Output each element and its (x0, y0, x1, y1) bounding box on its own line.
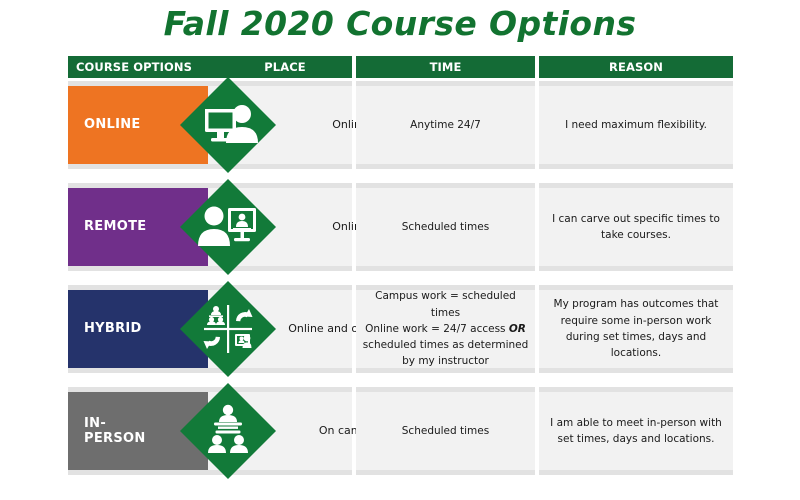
header-label-course-options: COURSE OPTIONS (76, 60, 192, 74)
mode-label-remote: REMOTE (84, 219, 146, 234)
mode-label-in-person-line1: IN- (84, 416, 106, 431)
reason-text-hybrid: My program has outcomes that require som… (539, 296, 733, 361)
cell-reason-hybrid: My program has outcomes that require som… (539, 285, 733, 373)
table-row: IN- PERSON (68, 387, 733, 475)
cell-time-in-person: Scheduled times (356, 387, 535, 475)
header-label-time: TIME (430, 60, 462, 74)
course-options-infographic: Fall 2020 Course Options COURSE OPTIONS … (0, 0, 800, 500)
monitor-person-icon (178, 75, 278, 175)
hybrid-quadrant-arrows-icon (178, 279, 278, 379)
time-text-hybrid: Campus work = scheduled times Online wor… (356, 288, 535, 369)
cell-course-option-in-person: IN- PERSON (68, 387, 352, 475)
time-emphasis-or: OR (509, 323, 526, 335)
time-text-remote: Scheduled times (396, 219, 495, 235)
header-label-place: PLACE (218, 60, 352, 74)
page-title: Fall 2020 Course Options (0, 4, 800, 43)
time-text-in-person: Scheduled times (396, 423, 495, 439)
cell-time-remote: Scheduled times (356, 183, 535, 271)
table-header-row: COURSE OPTIONS PLACE TIME REASON (68, 56, 733, 78)
person-at-screen-icon (178, 177, 278, 277)
time-line-1: Campus work = scheduled times (375, 290, 516, 318)
mode-label-hybrid: HYBRID (84, 321, 142, 336)
cell-course-option-hybrid: HYBRID (68, 285, 352, 373)
table-row: HYBRID (68, 285, 733, 373)
course-options-table: COURSE OPTIONS PLACE TIME REASON ONLINE (68, 56, 733, 475)
cell-course-option-remote: REMOTE (68, 183, 352, 271)
header-cell-reason: REASON (539, 56, 733, 78)
cell-reason-remote: I can carve out specific times to take c… (539, 183, 733, 271)
cell-reason-in-person: I am able to meet in-person with set tim… (539, 387, 733, 475)
cell-time-online: Anytime 24/7 (356, 81, 535, 169)
cell-time-hybrid: Campus work = scheduled times Online wor… (356, 285, 535, 373)
mode-label-online: ONLINE (84, 117, 141, 132)
reason-text-remote: I can carve out specific times to take c… (539, 211, 733, 244)
reason-text-in-person: I am able to meet in-person with set tim… (539, 415, 733, 448)
cell-reason-online: I need maximum flexibility. (539, 81, 733, 169)
cell-course-option-online: ONLINE (68, 81, 352, 169)
reason-text-online: I need maximum flexibility. (559, 117, 713, 133)
time-line-3: scheduled times as determined by my inst… (363, 339, 529, 367)
time-line-2: Online work = 24/7 access (365, 323, 509, 335)
classroom-people-icon (178, 381, 278, 481)
table-row: REMOTE (68, 183, 733, 271)
header-cell-time: TIME (356, 56, 535, 78)
table-row: ONLINE (68, 81, 733, 169)
mode-label-in-person: IN- PERSON (84, 416, 146, 447)
header-label-reason: REASON (609, 60, 663, 74)
time-text-online: Anytime 24/7 (404, 117, 487, 133)
mode-label-in-person-line2: PERSON (84, 431, 146, 446)
